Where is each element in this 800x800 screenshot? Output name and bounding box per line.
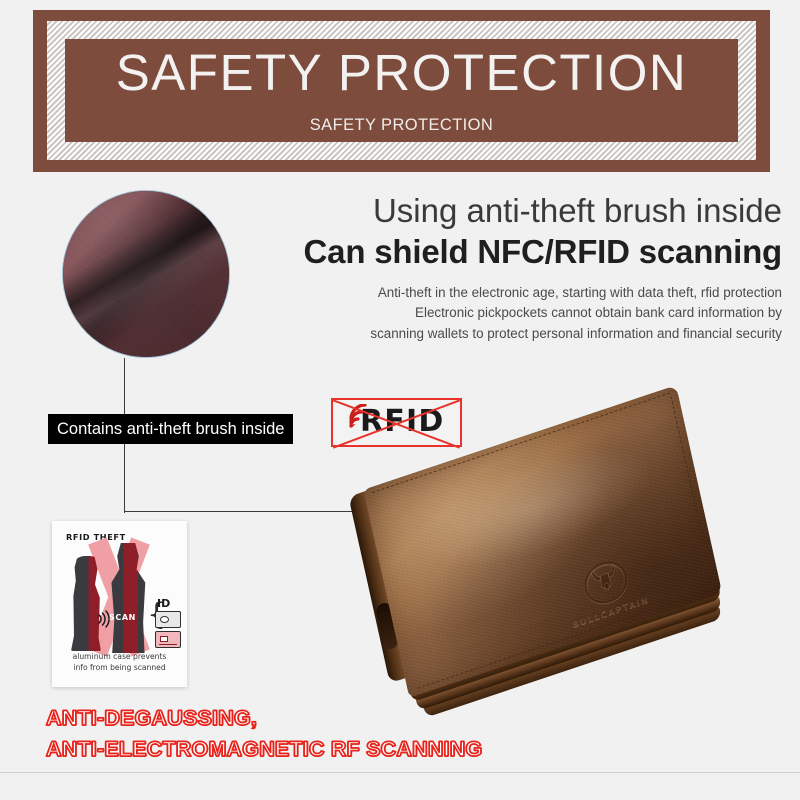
- fabric-shading: [62, 190, 230, 358]
- feature-body-line-3: scanning wallets to protect personal inf…: [258, 324, 782, 344]
- banner-hatched-frame: SAFETY PROTECTION SAFETY PROTECTION: [47, 21, 756, 160]
- id-label: ID: [157, 597, 170, 610]
- scan-signal-waves-icon: [96, 609, 110, 629]
- bottom-claim-text: ANTI-DEGAUSSING, ANTI-ELECTROMAGNETIC RF…: [46, 703, 482, 765]
- card-stripe: [159, 644, 177, 645]
- bottom-claim-line-1: ANTI-DEGAUSSING,: [46, 703, 482, 734]
- anti-theft-brush-label: Contains anti-theft brush inside: [48, 414, 293, 444]
- banner-subtitle: SAFETY PROTECTION: [310, 116, 493, 135]
- id-card-icon: [155, 611, 181, 628]
- feature-body-copy: Anti-theft in the electronic age, starti…: [258, 283, 782, 344]
- feature-headline-primary: Using anti-theft brush inside: [258, 192, 782, 231]
- wallet-front-face: BULLCAPTAIN: [363, 385, 722, 698]
- header-banner: SAFETY PROTECTION SAFETY PROTECTION: [33, 10, 770, 172]
- fabric-detail-circle: [62, 190, 230, 358]
- theft-card-caption-line-1: aluminum case prevents: [52, 651, 187, 662]
- feature-headline-secondary: Can shield NFC/RFID scanning: [258, 233, 782, 272]
- product-feature-poster: SAFETY PROTECTION SAFETY PROTECTION Usin…: [0, 0, 800, 800]
- banner-title: SAFETY PROTECTION: [116, 46, 687, 100]
- bank-card-icon: [155, 631, 181, 648]
- id-photo-icon: [160, 616, 169, 623]
- scan-label: SCAN: [109, 613, 136, 622]
- theft-card-caption: aluminum case prevents info from being s…: [52, 651, 187, 673]
- banner-inner: SAFETY PROTECTION SAFETY PROTECTION: [65, 39, 738, 142]
- feature-text-block: Using anti-theft brush inside Can shield…: [258, 192, 782, 344]
- silhouette-woman: [71, 556, 101, 651]
- bottom-divider: [0, 772, 800, 773]
- theft-card-caption-line-2: info from being scanned: [52, 662, 187, 673]
- rfid-theft-info-card: RFID THEFT SCAN { ID aluminum case preve…: [52, 521, 187, 687]
- bottom-claim-line-2: ANTI-ELECTROMAGNETIC RF SCANNING: [46, 734, 482, 765]
- wallet-product-image: BULLCAPTAIN: [352, 415, 772, 715]
- card-chip-icon: [160, 636, 168, 642]
- feature-body-line-2: Electronic pickpockets cannot obtain ban…: [258, 303, 782, 323]
- feature-body-line-1: Anti-theft in the electronic age, starti…: [258, 283, 782, 303]
